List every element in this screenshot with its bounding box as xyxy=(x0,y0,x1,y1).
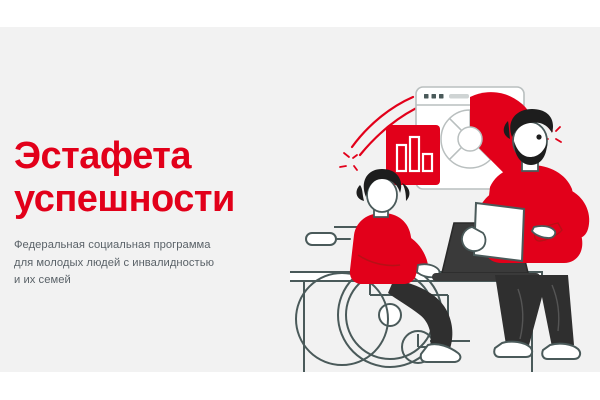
browser-url-bar xyxy=(449,94,469,99)
banner-illustration xyxy=(290,27,600,372)
bottom-white-margin xyxy=(0,372,600,400)
browser-dots-icon xyxy=(424,94,444,99)
page-title: Эстафета успешности xyxy=(14,135,274,221)
banner-text-block: Эстафета успешности Федеральная социальн… xyxy=(14,135,274,290)
banner-subtitle: Федеральная социальная программа для мол… xyxy=(14,221,274,290)
promo-banner: Эстафета успешности Федеральная социальн… xyxy=(0,27,600,372)
top-white-margin xyxy=(0,0,600,27)
sparkle-left-icon xyxy=(340,153,357,170)
